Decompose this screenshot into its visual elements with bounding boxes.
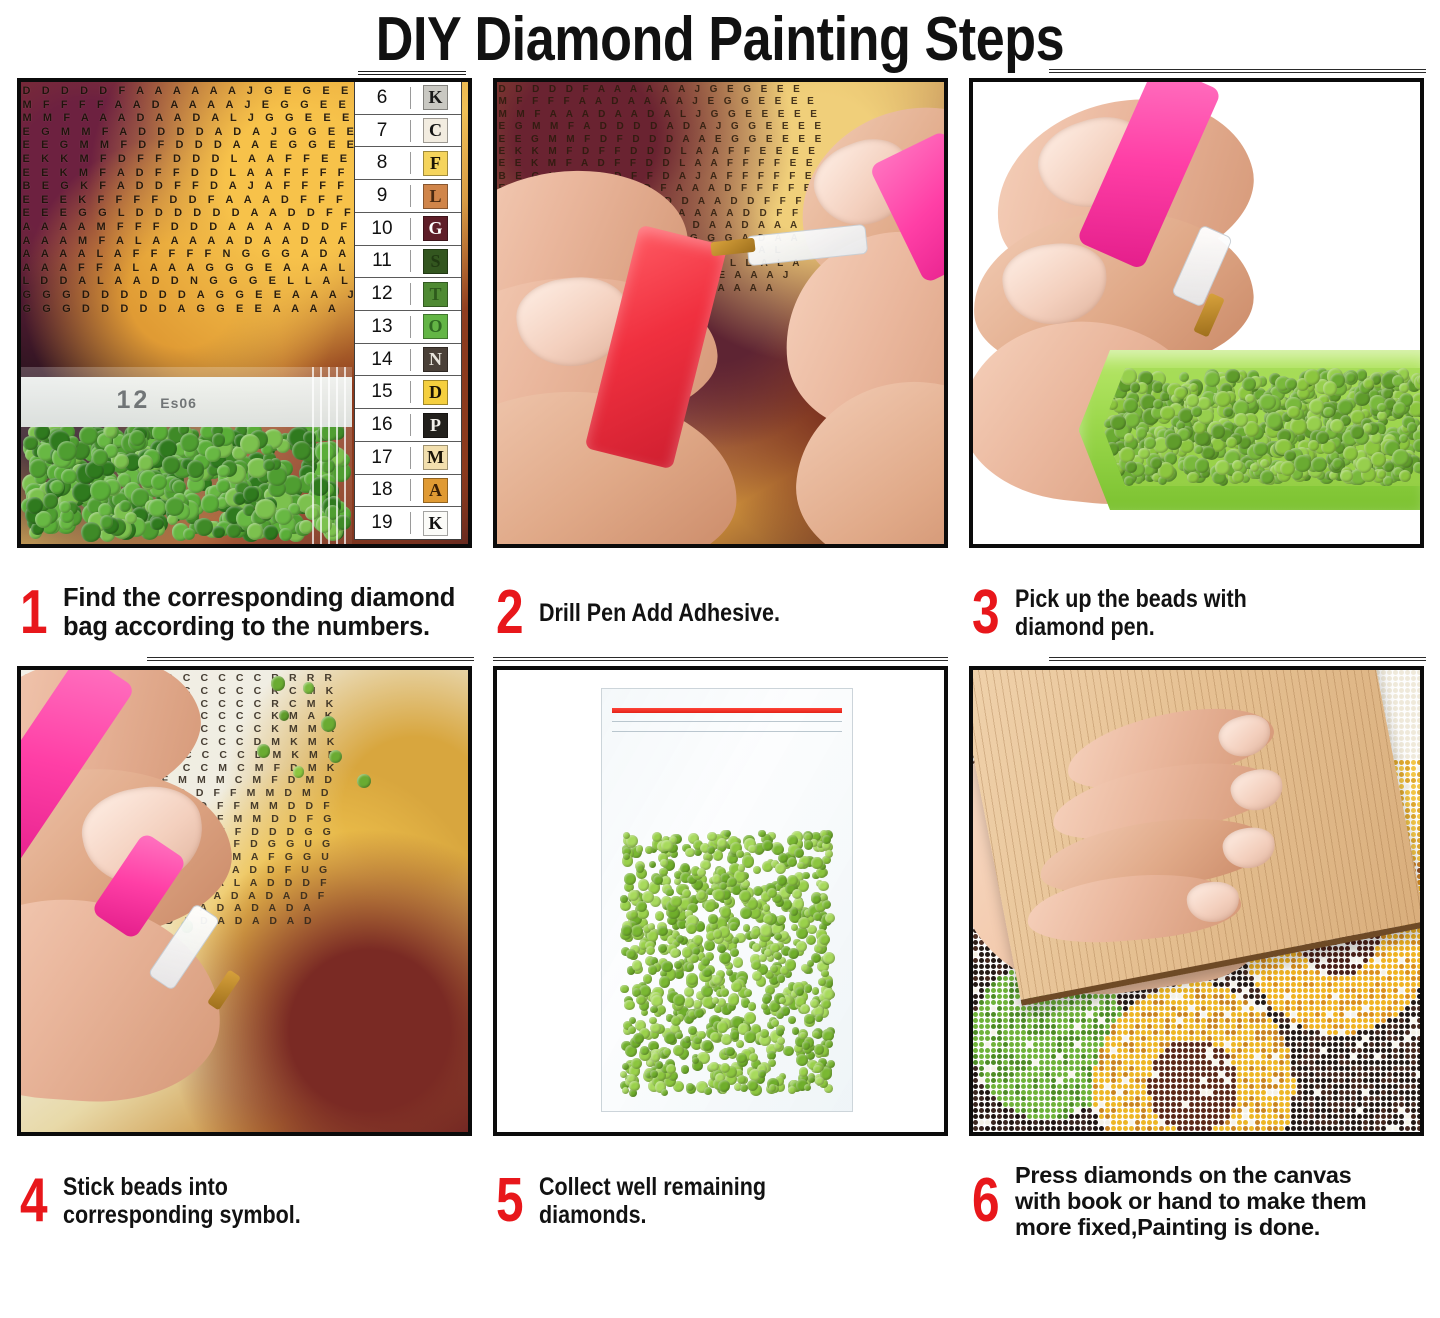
legend-row: 18A — [355, 475, 461, 508]
mosaic-bead — [1411, 802, 1416, 807]
bead — [661, 840, 673, 852]
mosaic-bead — [1405, 724, 1410, 729]
bead — [645, 846, 653, 854]
legend-color-swatch: K — [423, 511, 448, 536]
bead — [275, 508, 292, 525]
mosaic-bead — [1393, 718, 1398, 723]
bead — [811, 894, 821, 904]
bead — [1330, 419, 1344, 433]
bead — [1215, 391, 1231, 407]
mosaic-bead — [1399, 688, 1404, 693]
scan-artifact-lines — [493, 657, 948, 665]
mosaic-bead — [1405, 748, 1410, 753]
step-number-5: 5 — [496, 1175, 523, 1227]
step-text-1-line1: Find the corresponding diamond — [63, 584, 455, 613]
step-caption-4: 4 Stick beads into corresponding symbol. — [6, 1136, 482, 1254]
step-image-1: D D D D D F A A A A A A J G E G E E E M … — [17, 78, 472, 548]
bead — [740, 1084, 748, 1092]
bead — [1245, 394, 1255, 404]
legend-symbol-cell: A — [411, 478, 461, 503]
bead — [29, 459, 47, 477]
mosaic-bead — [1411, 760, 1416, 765]
mosaic-bead — [1417, 862, 1420, 867]
bead — [822, 900, 831, 909]
mosaic-bead — [1405, 700, 1410, 705]
mosaic-bead — [1393, 712, 1398, 717]
bead — [736, 1040, 744, 1048]
bead — [653, 875, 663, 885]
bead — [710, 1032, 720, 1042]
bead — [777, 974, 786, 983]
bead — [806, 935, 816, 945]
mosaic-bead — [1393, 742, 1398, 747]
step-image-3 — [969, 78, 1424, 548]
bead — [1413, 462, 1424, 473]
step-image-2: D D D D D F A A A A A A J G E G E E E M … — [493, 78, 948, 548]
bead — [670, 948, 680, 958]
bead — [624, 873, 636, 885]
mosaic-bead — [1393, 676, 1398, 681]
bead — [821, 999, 832, 1010]
mosaic-bead — [1411, 796, 1416, 801]
mosaic-bead — [1405, 778, 1410, 783]
bead — [1316, 431, 1329, 444]
bead — [43, 493, 59, 509]
bead — [697, 890, 707, 900]
bead — [1110, 415, 1125, 430]
bead — [255, 499, 276, 520]
bead — [1260, 459, 1269, 468]
legend-color-swatch: F — [423, 151, 448, 176]
mosaic-bead — [1411, 706, 1416, 711]
mosaic-bead — [1411, 832, 1416, 837]
bead — [655, 911, 665, 921]
bead — [823, 988, 835, 1000]
mosaic-bead — [1411, 838, 1416, 843]
bead — [795, 987, 804, 996]
bead — [201, 494, 219, 512]
bead — [658, 944, 667, 953]
mosaic-bead — [1417, 838, 1420, 843]
bead — [1125, 461, 1137, 473]
bead — [733, 957, 744, 968]
legend-symbol-cell: O — [411, 314, 461, 339]
bead — [785, 959, 797, 971]
bead — [671, 1016, 681, 1026]
steps-row-bottom: C C C C C C C C C C C C C C R R R R C C … — [6, 666, 1434, 1254]
bead — [57, 441, 77, 461]
bead — [800, 1004, 810, 1014]
bead — [620, 985, 629, 994]
bead — [760, 924, 772, 936]
bead — [1350, 425, 1364, 439]
bead — [796, 1054, 808, 1066]
legend-number: 8 — [355, 152, 411, 174]
bead — [787, 875, 798, 886]
bead — [819, 934, 831, 946]
bead — [1232, 460, 1243, 471]
bead — [1187, 472, 1198, 483]
bag-seam-lines — [308, 367, 352, 548]
bead — [620, 895, 628, 903]
bead — [768, 1059, 776, 1067]
bead — [1309, 399, 1324, 414]
legend-number: 18 — [355, 479, 411, 501]
mosaic-bead — [1417, 676, 1420, 681]
bead — [740, 907, 752, 919]
mosaic-bead — [1387, 706, 1392, 711]
legend-row: 16P — [355, 409, 461, 442]
mosaic-bead — [1417, 688, 1420, 693]
symbol-legend-table: 6K7C8F9L10G11S12T13O14N15D16P17M18A19K — [354, 81, 462, 540]
bead — [81, 522, 101, 542]
mosaic-bead — [1405, 670, 1410, 675]
mosaic-bead — [1387, 700, 1392, 705]
legend-symbol-cell: F — [411, 151, 461, 176]
mosaic-bead — [1411, 844, 1416, 849]
step-image-5 — [493, 666, 948, 1136]
step-text-1: Find the corresponding diamond bag accor… — [63, 584, 455, 642]
bead — [787, 857, 797, 867]
bead — [1343, 446, 1358, 461]
step-cell-4: C C C C C C C C C C C C C C R R R R C C … — [6, 666, 482, 1254]
mosaic-bead — [1417, 766, 1420, 771]
mosaic-bead — [1405, 742, 1410, 747]
mosaic-bead — [1399, 778, 1404, 783]
legend-color-swatch: K — [423, 85, 448, 110]
bead — [804, 1014, 815, 1025]
bead — [138, 455, 153, 470]
mosaic-bead — [1399, 694, 1404, 699]
legend-number: 7 — [355, 120, 411, 142]
bead — [1280, 461, 1295, 476]
bead — [737, 1075, 746, 1084]
mosaic-bead — [1405, 802, 1410, 807]
bead — [674, 961, 682, 969]
bead — [777, 1037, 786, 1046]
bead — [670, 896, 681, 907]
bead — [636, 864, 645, 873]
bead — [1194, 445, 1203, 454]
bead — [650, 1006, 658, 1014]
mosaic-bead — [1405, 688, 1410, 693]
bead — [777, 875, 788, 886]
bead — [744, 989, 752, 997]
legend-color-swatch: L — [423, 184, 448, 209]
bead — [697, 1031, 705, 1039]
mosaic-bead — [1405, 796, 1410, 801]
mosaic-bead — [1417, 712, 1420, 717]
step-text-2: Drill Pen Add Adhesive. — [539, 599, 780, 628]
mosaic-bead — [1399, 754, 1404, 759]
mosaic-bead — [1399, 670, 1404, 675]
bead — [825, 913, 835, 923]
bead — [686, 923, 697, 934]
bead — [1377, 411, 1387, 421]
step-cell-5: 5 Collect well remaining diamonds. — [482, 666, 958, 1254]
mosaic-bead — [1387, 682, 1392, 687]
bead — [1259, 394, 1275, 410]
mosaic-bead — [1393, 724, 1398, 729]
mosaic-bead — [1417, 790, 1420, 795]
legend-symbol-cell: S — [411, 249, 461, 274]
bead — [243, 486, 258, 501]
bead — [649, 861, 656, 868]
bead — [329, 750, 342, 763]
bead — [771, 1019, 779, 1027]
mosaic-bead — [1417, 730, 1420, 735]
bead — [804, 840, 813, 849]
mosaic-bead — [1399, 724, 1404, 729]
bead — [1191, 406, 1202, 417]
legend-color-swatch: O — [423, 314, 448, 339]
bead — [777, 915, 786, 924]
bead — [279, 710, 290, 721]
bead — [1363, 423, 1372, 432]
bead — [707, 832, 717, 842]
step-cell-3: 3 Pick up the beads with diamond pen. — [958, 78, 1434, 666]
bead — [1407, 422, 1418, 433]
mosaic-bead — [1399, 748, 1404, 753]
scan-artifact-lines — [147, 657, 474, 665]
bead — [1189, 383, 1198, 392]
step-text-4-line2: corresponding symbol. — [63, 1201, 301, 1230]
mosaic-bead — [1381, 670, 1386, 675]
mosaic-bead — [1417, 718, 1420, 723]
legend-number: 14 — [355, 349, 411, 371]
bead — [1377, 403, 1387, 413]
bead — [763, 904, 771, 912]
mosaic-bead — [1405, 808, 1410, 813]
mosaic-bead — [1405, 706, 1410, 711]
mosaic-bead — [1405, 730, 1410, 735]
legend-row: 19K — [355, 507, 461, 539]
bead — [664, 1032, 676, 1044]
bead — [212, 433, 226, 447]
bead — [825, 850, 833, 858]
bead — [776, 1028, 784, 1036]
bead — [624, 1000, 635, 1011]
step-text-1-line2: bag according to the numbers. — [63, 613, 455, 642]
mosaic-bead — [1417, 772, 1420, 777]
legend-symbol-cell: K — [411, 511, 461, 536]
bead — [631, 1058, 642, 1069]
bead — [736, 1053, 747, 1064]
bead — [792, 889, 802, 899]
mosaic-bead — [1417, 868, 1420, 873]
mosaic-bead — [1411, 766, 1416, 771]
step-caption-2: 2 Drill Pen Add Adhesive. — [482, 548, 958, 666]
bead — [626, 949, 636, 959]
legend-symbol-cell: G — [411, 216, 461, 241]
bead-bag-code: Es06 — [160, 395, 197, 411]
mosaic-bead — [1411, 742, 1416, 747]
steps-grid: D D D D D F A A A A A A J G E G E E E M … — [0, 78, 1440, 1254]
mosaic-bead — [1417, 820, 1420, 825]
bead — [1225, 369, 1239, 383]
bead — [707, 846, 715, 854]
mosaic-bead — [1417, 808, 1420, 813]
mosaic-bead — [1387, 694, 1392, 699]
mosaic-bead — [1381, 682, 1386, 687]
bead — [655, 1061, 663, 1069]
mosaic-bead — [1411, 754, 1416, 759]
bead — [1304, 369, 1320, 385]
bead — [263, 525, 278, 540]
bead — [151, 474, 167, 490]
mosaic-bead — [1417, 670, 1420, 675]
bead — [1136, 427, 1148, 439]
legend-number: 11 — [355, 250, 411, 272]
step-text-2-line1: Drill Pen Add Adhesive. — [539, 599, 780, 628]
mosaic-bead — [1399, 760, 1404, 765]
bead — [821, 970, 828, 977]
bead — [1138, 448, 1150, 460]
bead — [673, 994, 685, 1006]
mosaic-bead — [1411, 808, 1416, 813]
mosaic-bead — [1417, 778, 1420, 783]
legend-number: 10 — [355, 218, 411, 240]
bead — [1371, 452, 1386, 467]
legend-symbol-cell: M — [411, 445, 461, 470]
bead — [165, 497, 184, 516]
bead — [1377, 469, 1387, 479]
scan-artifact-lines — [1049, 657, 1426, 665]
mosaic-bead — [1411, 688, 1416, 693]
bead — [666, 1064, 676, 1074]
bead — [1287, 406, 1300, 419]
bead — [217, 465, 230, 478]
legend-symbol-cell: K — [411, 85, 461, 110]
bead — [748, 1002, 757, 1011]
bead — [195, 518, 213, 536]
mosaic-bead — [1417, 826, 1420, 831]
mosaic-bead — [1411, 712, 1416, 717]
bead-tray-beads — [1103, 368, 1424, 486]
mosaic-bead — [1393, 670, 1398, 675]
mosaic-bead — [1387, 718, 1392, 723]
mosaic-bead — [1399, 730, 1404, 735]
step-cell-1: D D D D D F A A A A A A J G E G E E E M … — [6, 78, 482, 666]
bead — [180, 433, 199, 452]
canvas-photo-1: D D D D D F A A A A A A J G E G E E E M … — [21, 82, 468, 544]
bead — [738, 864, 746, 872]
mosaic-bead — [1411, 676, 1416, 681]
bead — [1294, 455, 1310, 471]
legend-symbol-cell: C — [411, 118, 461, 143]
bead — [717, 1021, 729, 1033]
step-image-6 — [969, 666, 1424, 1136]
mosaic-bead — [1411, 748, 1416, 753]
bead — [744, 1012, 756, 1024]
bead — [704, 853, 711, 860]
bead — [629, 1081, 640, 1092]
bead — [804, 1084, 811, 1091]
bead — [743, 924, 750, 931]
legend-row: 8F — [355, 147, 461, 180]
legend-color-swatch: D — [423, 380, 448, 405]
bead — [694, 1008, 704, 1018]
bead — [681, 1065, 690, 1074]
steps-row-top: D D D D D F A A A A A A J G E G E E E M … — [6, 78, 1434, 666]
mosaic-bead — [1411, 670, 1416, 675]
bead — [1340, 470, 1353, 483]
mosaic-bead — [1417, 832, 1420, 837]
mosaic-bead — [1399, 682, 1404, 687]
mosaic-bead — [1399, 706, 1404, 711]
legend-number: 16 — [355, 414, 411, 436]
bead — [799, 1067, 809, 1077]
mosaic-bead — [1393, 730, 1398, 735]
bead-pile-in-bag — [620, 829, 836, 1097]
bead — [659, 976, 671, 988]
mosaic-bead — [1405, 784, 1410, 789]
bead — [702, 1040, 713, 1051]
step-caption-5: 5 Collect well remaining diamonds. — [482, 1136, 958, 1254]
legend-number: 9 — [355, 185, 411, 207]
mosaic-bead — [1393, 706, 1398, 711]
mosaic-bead — [1417, 700, 1420, 705]
bead — [686, 973, 698, 985]
bead — [815, 1077, 824, 1086]
legend-symbol-cell: T — [411, 282, 461, 307]
bead — [129, 430, 145, 446]
bead — [665, 888, 673, 896]
mosaic-bead — [1387, 676, 1392, 681]
bead — [818, 881, 829, 892]
bead — [661, 961, 673, 973]
bead — [776, 1011, 784, 1019]
legend-row: 10G — [355, 213, 461, 246]
bead — [822, 835, 831, 844]
bead — [693, 935, 703, 945]
bead-bag-number: 12 — [117, 386, 151, 414]
mosaic-bead — [1417, 736, 1420, 741]
bead — [648, 965, 657, 974]
mosaic-bead — [1387, 670, 1392, 675]
bead — [702, 968, 712, 978]
step-text-3-line1: Pick up the beads with — [1015, 585, 1247, 614]
legend-number: 15 — [355, 381, 411, 403]
mosaic-bead — [1417, 760, 1420, 765]
bead — [812, 987, 820, 995]
mosaic-bead — [1399, 718, 1404, 723]
mosaic-bead — [1399, 742, 1404, 747]
mosaic-bead — [1405, 694, 1410, 699]
bead — [797, 862, 804, 869]
mosaic-bead — [1399, 772, 1404, 777]
mosaic-bead — [1417, 682, 1420, 687]
bead — [690, 954, 699, 963]
bead — [744, 1031, 755, 1042]
mosaic-bead — [1417, 694, 1420, 699]
bead — [685, 848, 695, 858]
bead — [657, 926, 668, 937]
bead — [279, 528, 292, 541]
mosaic-bead — [1411, 790, 1416, 795]
mosaic-bead — [1405, 772, 1410, 777]
bead — [1345, 372, 1356, 383]
bead — [162, 456, 180, 474]
step-text-5-line2: diamonds. — [539, 1201, 766, 1230]
legend-color-swatch: A — [423, 478, 448, 503]
bead — [1399, 383, 1409, 393]
mosaic-bead — [1417, 706, 1420, 711]
bead — [648, 923, 655, 930]
bead — [732, 937, 739, 944]
mosaic-bead — [1417, 784, 1420, 789]
mosaic-bead — [1393, 748, 1398, 753]
